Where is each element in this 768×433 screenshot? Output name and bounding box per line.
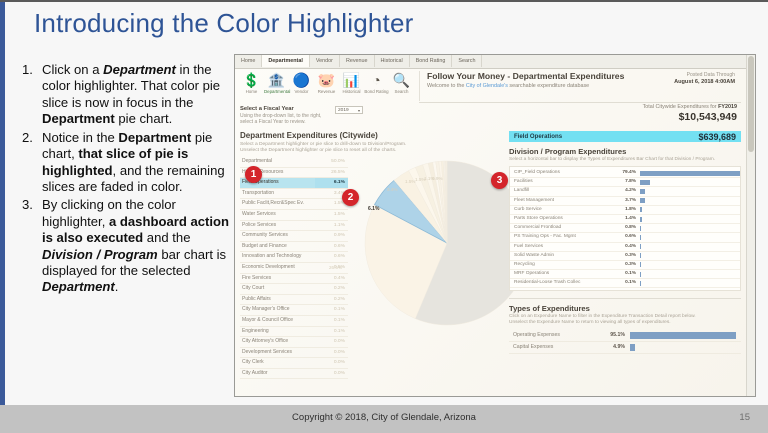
nav-money-magnifier-button[interactable]: 💲Home bbox=[239, 71, 264, 94]
fiscal-year-desc: Using the drop-down list, to the right, … bbox=[240, 113, 412, 126]
instruction-text: Click on a Department in the color highl… bbox=[42, 62, 232, 128]
dashboard-tab-vendor[interactable]: Vendor bbox=[310, 55, 340, 67]
division-name: Recycling bbox=[510, 261, 604, 269]
fiscal-year-desc-2: select a Fiscal Year to review. bbox=[240, 119, 306, 125]
dept-desc-1: Select a Department highlighter or pie s… bbox=[240, 142, 406, 147]
nav-building-button[interactable]: 🏦Departmental bbox=[264, 71, 289, 94]
posted-data-value: August 6, 2018 4:00AM bbox=[674, 79, 735, 85]
division-bar-track bbox=[640, 243, 740, 251]
posted-data-block: Posted Data Through August 6, 2018 4:00A… bbox=[674, 72, 735, 85]
pie-label: 3.4% bbox=[387, 187, 397, 192]
division-row[interactable]: Landfill4.2% bbox=[510, 187, 740, 196]
callout-badge-2: 2 bbox=[342, 189, 359, 206]
totals-fiscal-year: FY2019 bbox=[718, 104, 737, 110]
dept-section-desc: Select a Department highlighter or pie s… bbox=[240, 142, 500, 154]
division-row[interactable]: PS Training Ops - Fac. Mgmt0.6% bbox=[510, 233, 740, 242]
department-row[interactable]: Budget and Finance0.6% bbox=[240, 242, 348, 253]
selected-department-name: Field Operations bbox=[514, 133, 698, 140]
instruction-list: 1.Click on a Department in the color hig… bbox=[18, 62, 232, 298]
division-name: Fleet Management bbox=[510, 197, 604, 205]
department-name: Budget and Finance bbox=[240, 242, 315, 252]
callout-badge-3: 3 bbox=[491, 172, 508, 189]
division-percent: 0.6% bbox=[604, 233, 640, 241]
department-name: City Attorney's Office bbox=[240, 337, 315, 347]
instruction-number: 3. bbox=[18, 197, 42, 296]
division-percent: 0.1% bbox=[604, 270, 640, 278]
department-name: Economic Development bbox=[240, 263, 315, 273]
department-row[interactable]: Water Services1.5% bbox=[240, 210, 348, 221]
division-bar-chart[interactable]: CIP_Field Operations79.4%Facilities7.8%L… bbox=[509, 166, 741, 291]
department-row[interactable]: Police Services1.1% bbox=[240, 221, 348, 232]
type-row[interactable]: Operating Expenses95.1% bbox=[509, 330, 741, 342]
nav-icon-label: Bond Rating bbox=[364, 89, 389, 94]
pie-chart-labels: 56.5%26.5%6.1%3.4%1.5%1.5%1.1%0.9% bbox=[335, 165, 535, 335]
scrollbar-thumb[interactable] bbox=[748, 56, 754, 152]
slide-footer: Copyright © 2018, City of Glendale, Ariz… bbox=[0, 405, 768, 433]
nav-search-globe-button[interactable]: 🔍Search bbox=[389, 71, 414, 94]
division-bar-fill[interactable] bbox=[640, 189, 645, 194]
department-row[interactable]: Mayor & Council Office0.1% bbox=[240, 316, 348, 327]
nav-icon-label: Vendor bbox=[289, 89, 314, 94]
instruction-item-2: 2.Notice in the Department pie chart, th… bbox=[18, 130, 232, 196]
dashboard-tab-departmental[interactable]: Departmental bbox=[262, 55, 309, 67]
types-section-heading: Types of Expenditures bbox=[509, 304, 741, 313]
fiscal-year-heading: Select a Fiscal Year bbox=[240, 106, 412, 112]
type-bar-track bbox=[630, 342, 741, 353]
division-bar-fill[interactable] bbox=[640, 235, 641, 240]
division-name: Landfill bbox=[510, 187, 604, 195]
search-globe-icon: 🔍 bbox=[389, 71, 414, 89]
nav-gauge-button[interactable]: ◔Bond Rating bbox=[364, 71, 389, 94]
department-name: City Manager's Office bbox=[240, 305, 315, 315]
department-name: Transportation bbox=[240, 189, 315, 199]
division-bar-track bbox=[640, 169, 740, 177]
department-name: Development Services bbox=[240, 348, 315, 358]
money-magnifier-icon: 💲 bbox=[239, 71, 264, 89]
department-name: Public Affairs bbox=[240, 295, 315, 305]
department-row[interactable]: Fire Services0.4% bbox=[240, 274, 348, 285]
division-section-desc: Select a horizontal bar to display the T… bbox=[509, 157, 741, 163]
department-percent: 0.0% bbox=[315, 337, 348, 347]
chevron-down-icon: ▾ bbox=[358, 107, 360, 115]
dept-section-header: Department Expenditures (Citywide) Selec… bbox=[240, 131, 500, 154]
dept-section-heading: Department Expenditures (Citywide) bbox=[240, 131, 500, 140]
division-name: Curb Service bbox=[510, 206, 604, 214]
division-name: Parts Store Operations bbox=[510, 215, 604, 223]
instruction-text: By clicking on the color highlighter, a … bbox=[42, 197, 232, 296]
division-bar-fill[interactable] bbox=[640, 217, 642, 222]
type-bar-fill[interactable] bbox=[630, 344, 635, 351]
department-row[interactable]: Public Affairs0.2% bbox=[240, 295, 348, 306]
division-row[interactable]: Facilities7.8% bbox=[510, 178, 740, 187]
division-percent: 4.2% bbox=[604, 187, 640, 195]
instruction-item-3: 3.By clicking on the color highlighter, … bbox=[18, 197, 232, 296]
type-name: Operating Expenses bbox=[509, 330, 591, 341]
division-row[interactable]: Recycling0.3% bbox=[510, 261, 740, 270]
types-bar-chart[interactable]: Operating Expenses95.1%Capital Expenses4… bbox=[509, 330, 741, 354]
division-bar-track bbox=[640, 224, 740, 232]
department-name: Mayor & Council Office bbox=[240, 316, 315, 326]
division-row[interactable]: Solid Waste Admin0.3% bbox=[510, 252, 740, 261]
division-bar-track bbox=[640, 252, 740, 260]
division-percent: 0.4% bbox=[604, 243, 640, 251]
division-bar-fill[interactable] bbox=[640, 180, 650, 185]
department-name: City Auditor bbox=[240, 369, 315, 379]
division-percent: 3.7% bbox=[604, 197, 640, 205]
division-row[interactable]: Fuel Services0.4% bbox=[510, 243, 740, 252]
department-row[interactable]: Innovation and Technology0.6% bbox=[240, 252, 348, 263]
department-row[interactable]: Transportation3.4% bbox=[240, 189, 348, 200]
selected-department-banner: Field Operations $639,689 bbox=[509, 131, 741, 142]
footer-page-number: 15 bbox=[739, 412, 750, 423]
totals-value: $10,543,949 bbox=[643, 111, 737, 123]
pie-label: 0.9% bbox=[432, 176, 442, 181]
dashboard-tab-home[interactable]: Home bbox=[235, 55, 262, 67]
division-name: Solid Waste Admin bbox=[510, 252, 604, 260]
nav-icon-label: Historical bbox=[339, 89, 364, 94]
department-name: Public Faclit,Recr&Spec Ev. bbox=[240, 199, 315, 209]
division-percent: 1.4% bbox=[604, 215, 640, 223]
dashboard-icon-nav[interactable]: 💲Home🏦Departmental🔵Vendor🐷Revenue📊Histor… bbox=[239, 71, 419, 101]
division-bar-track bbox=[640, 270, 740, 278]
dashboard-tab-search[interactable]: Search bbox=[452, 55, 482, 67]
department-row[interactable]: Development Services0.0% bbox=[240, 348, 348, 359]
department-row[interactable]: City Auditor0.0% bbox=[240, 369, 348, 380]
totals-label-pre: Total Citywide Expenditures for bbox=[643, 104, 719, 110]
division-bar-track bbox=[640, 178, 740, 186]
division-bar-fill[interactable] bbox=[640, 171, 740, 176]
citywide-totals: Total Citywide Expenditures for FY2019 $… bbox=[643, 104, 737, 123]
dept-desc-2: Unselect the Department highlighter or p… bbox=[240, 148, 396, 153]
subtitle-post: searchable expenditure database bbox=[508, 83, 589, 89]
vendor-people-icon: 🔵 bbox=[289, 71, 314, 89]
division-bar-fill[interactable] bbox=[640, 253, 641, 258]
division-bar-fill[interactable] bbox=[640, 198, 645, 203]
division-percent: 0.3% bbox=[604, 261, 640, 269]
division-bar-fill[interactable] bbox=[640, 262, 641, 267]
type-name: Capital Expenses bbox=[509, 342, 591, 353]
department-name: Community Services bbox=[240, 231, 315, 241]
department-name: Water Services bbox=[240, 210, 315, 220]
department-row[interactable]: City Clerk0.0% bbox=[240, 358, 348, 369]
division-row[interactable]: MRF Operations0.1% bbox=[510, 270, 740, 279]
footer-copyright: Copyright © 2018, City of Glendale, Ariz… bbox=[0, 412, 768, 423]
nav-piggy-bank-button[interactable]: 🐷Revenue bbox=[314, 71, 339, 94]
division-bar-fill[interactable] bbox=[640, 226, 641, 231]
division-row[interactable]: Commercial Frontload0.8% bbox=[510, 224, 740, 233]
nav-icon-label: Departmental bbox=[264, 89, 289, 94]
dashboard-tab-revenue[interactable]: Revenue bbox=[340, 55, 375, 67]
instruction-item-1: 1.Click on a Department in the color hig… bbox=[18, 62, 232, 128]
division-name: Fuel Services bbox=[510, 243, 604, 251]
division-desc-1: Select a horizontal bar to display the T… bbox=[509, 157, 694, 162]
division-section-heading: Division / Program Expenditures bbox=[509, 147, 741, 156]
department-percent: 0.0% bbox=[315, 348, 348, 358]
division-percent: 1.8% bbox=[604, 206, 640, 214]
division-bar-track bbox=[640, 261, 740, 269]
department-row[interactable]: Community Services0.9% bbox=[240, 231, 348, 242]
division-desc-2: Program. bbox=[695, 157, 715, 162]
fiscal-year-desc-1: Using the drop-down list, to the right, bbox=[240, 113, 321, 119]
division-name: CIP_Field Operations bbox=[510, 169, 604, 177]
type-row[interactable]: Capital Expenses4.9% bbox=[509, 342, 741, 354]
dashboard-tab-historical[interactable]: Historical bbox=[375, 55, 410, 67]
page-title: Introducing the Color Highlighter bbox=[34, 8, 413, 39]
division-name: PS Training Ops - Fac. Mgmt bbox=[510, 233, 604, 241]
division-bar-fill[interactable] bbox=[640, 281, 641, 286]
subtitle-pre: Welcome to the bbox=[427, 83, 466, 89]
nav-icon-label: Search bbox=[389, 89, 414, 94]
division-name: Facilities bbox=[510, 178, 604, 186]
type-bar-fill[interactable] bbox=[630, 332, 736, 339]
department-row[interactable]: City Court0.2% bbox=[240, 284, 348, 295]
nav-vendor-people-button[interactable]: 🔵Vendor bbox=[289, 71, 314, 94]
division-percent: 0.1% bbox=[604, 279, 640, 287]
division-bar-track bbox=[640, 206, 740, 214]
department-name: Police Services bbox=[240, 221, 315, 231]
types-section: Types of Expenditures Click on an Expend… bbox=[509, 298, 741, 354]
instruction-number: 1. bbox=[18, 62, 42, 128]
fiscal-year-value: 2019 bbox=[338, 108, 349, 113]
gauge-icon: ◔ bbox=[364, 71, 389, 89]
division-bar-track bbox=[640, 187, 740, 195]
types-desc-1: Click on an Expendure Name to filter in … bbox=[509, 314, 696, 319]
dashboard-tab-bond-rating[interactable]: Bond Rating bbox=[410, 55, 453, 67]
slide-canvas: Introducing the Color Highlighter 1.Clic… bbox=[0, 0, 768, 433]
division-bar-fill[interactable] bbox=[640, 207, 642, 212]
division-bar-track bbox=[640, 279, 740, 287]
department-name: City Court bbox=[240, 284, 315, 294]
division-row[interactable]: Curb Service1.8% bbox=[510, 206, 740, 215]
division-row[interactable]: Residential-Loose Trash Collec0.1% bbox=[510, 279, 740, 288]
division-name: Commercial Frontload bbox=[510, 224, 604, 232]
dashboard-tab-bar[interactable]: HomeDepartmentalVendorRevenueHistoricalB… bbox=[235, 55, 747, 69]
department-name: Innovation and Technology bbox=[240, 252, 315, 262]
type-bar-track bbox=[630, 330, 741, 341]
department-row[interactable]: Public Faclit,Recr&Spec Ev.1.5% bbox=[240, 199, 348, 210]
building-icon: 🏦 bbox=[264, 71, 289, 89]
city-link[interactable]: City of Glendale's bbox=[466, 83, 508, 89]
dashboard-masthead: Follow Your Money - Departmental Expendi… bbox=[419, 71, 741, 101]
nav-bar-chart-button[interactable]: 📊Historical bbox=[339, 71, 364, 94]
type-percent: 4.9% bbox=[591, 342, 630, 353]
dashboard-scrollbar[interactable] bbox=[746, 55, 755, 396]
division-bar-track bbox=[640, 197, 740, 205]
instruction-text: Notice in the Department pie chart, that… bbox=[42, 130, 232, 196]
dashboard-screenshot: HomeDepartmentalVendorRevenueHistoricalB… bbox=[234, 54, 756, 397]
pie-label: 1.5% bbox=[405, 179, 415, 184]
types-desc-2: Unselect the Expendure Name to return to… bbox=[509, 320, 671, 325]
department-row[interactable]: Engineering0.1% bbox=[240, 327, 348, 338]
types-section-desc: Click on an Expendure Name to filter in … bbox=[509, 314, 741, 326]
department-name: City Clerk bbox=[240, 358, 315, 368]
division-bar-track bbox=[640, 233, 740, 241]
bar-chart-icon: 📊 bbox=[339, 71, 364, 89]
division-row[interactable]: Fleet Management3.7% bbox=[510, 197, 740, 206]
department-row[interactable]: City Manager's Office0.1% bbox=[240, 305, 348, 316]
selected-department-amount: $639,689 bbox=[698, 132, 736, 142]
fiscal-year-block: Select a Fiscal Year Using the drop-down… bbox=[240, 106, 412, 126]
division-percent: 0.3% bbox=[604, 252, 640, 260]
division-percent: 7.8% bbox=[604, 178, 640, 186]
division-bar-track bbox=[640, 215, 740, 223]
masthead-divider bbox=[419, 102, 741, 103]
pie-label: 6.1% bbox=[368, 206, 379, 212]
nav-icon-label: Home bbox=[239, 89, 264, 94]
division-percent: 0.8% bbox=[604, 224, 640, 232]
department-percent: 0.0% bbox=[315, 358, 348, 368]
fiscal-year-select[interactable]: 2019 ▾ bbox=[335, 106, 363, 114]
division-percent: 79.4% bbox=[604, 169, 640, 177]
department-name: Engineering bbox=[240, 327, 315, 337]
department-row[interactable]: City Attorney's Office0.0% bbox=[240, 337, 348, 348]
piggy-bank-icon: 🐷 bbox=[314, 71, 339, 89]
totals-label: Total Citywide Expenditures for FY2019 bbox=[643, 104, 737, 110]
type-percent: 95.1% bbox=[591, 330, 630, 341]
division-row[interactable]: CIP_Field Operations79.4% bbox=[510, 169, 740, 178]
division-bar-fill[interactable] bbox=[640, 244, 641, 249]
callout-badge-1: 1 bbox=[245, 166, 262, 183]
division-row[interactable]: Parts Store Operations1.4% bbox=[510, 215, 740, 224]
right-column: Field Operations $639,689 Division / Pro… bbox=[509, 131, 741, 354]
division-bar-fill[interactable] bbox=[640, 272, 641, 277]
division-name: MRF Operations bbox=[510, 270, 604, 278]
pie-label: 26.5% bbox=[329, 265, 342, 270]
division-name: Residential-Loose Trash Collec bbox=[510, 279, 604, 287]
posted-data-label: Posted Data Through bbox=[674, 72, 735, 78]
nav-icon-label: Revenue bbox=[314, 89, 339, 94]
instruction-number: 2. bbox=[18, 130, 42, 196]
department-name: Fire Services bbox=[240, 274, 315, 284]
department-percent: 0.0% bbox=[315, 369, 348, 379]
